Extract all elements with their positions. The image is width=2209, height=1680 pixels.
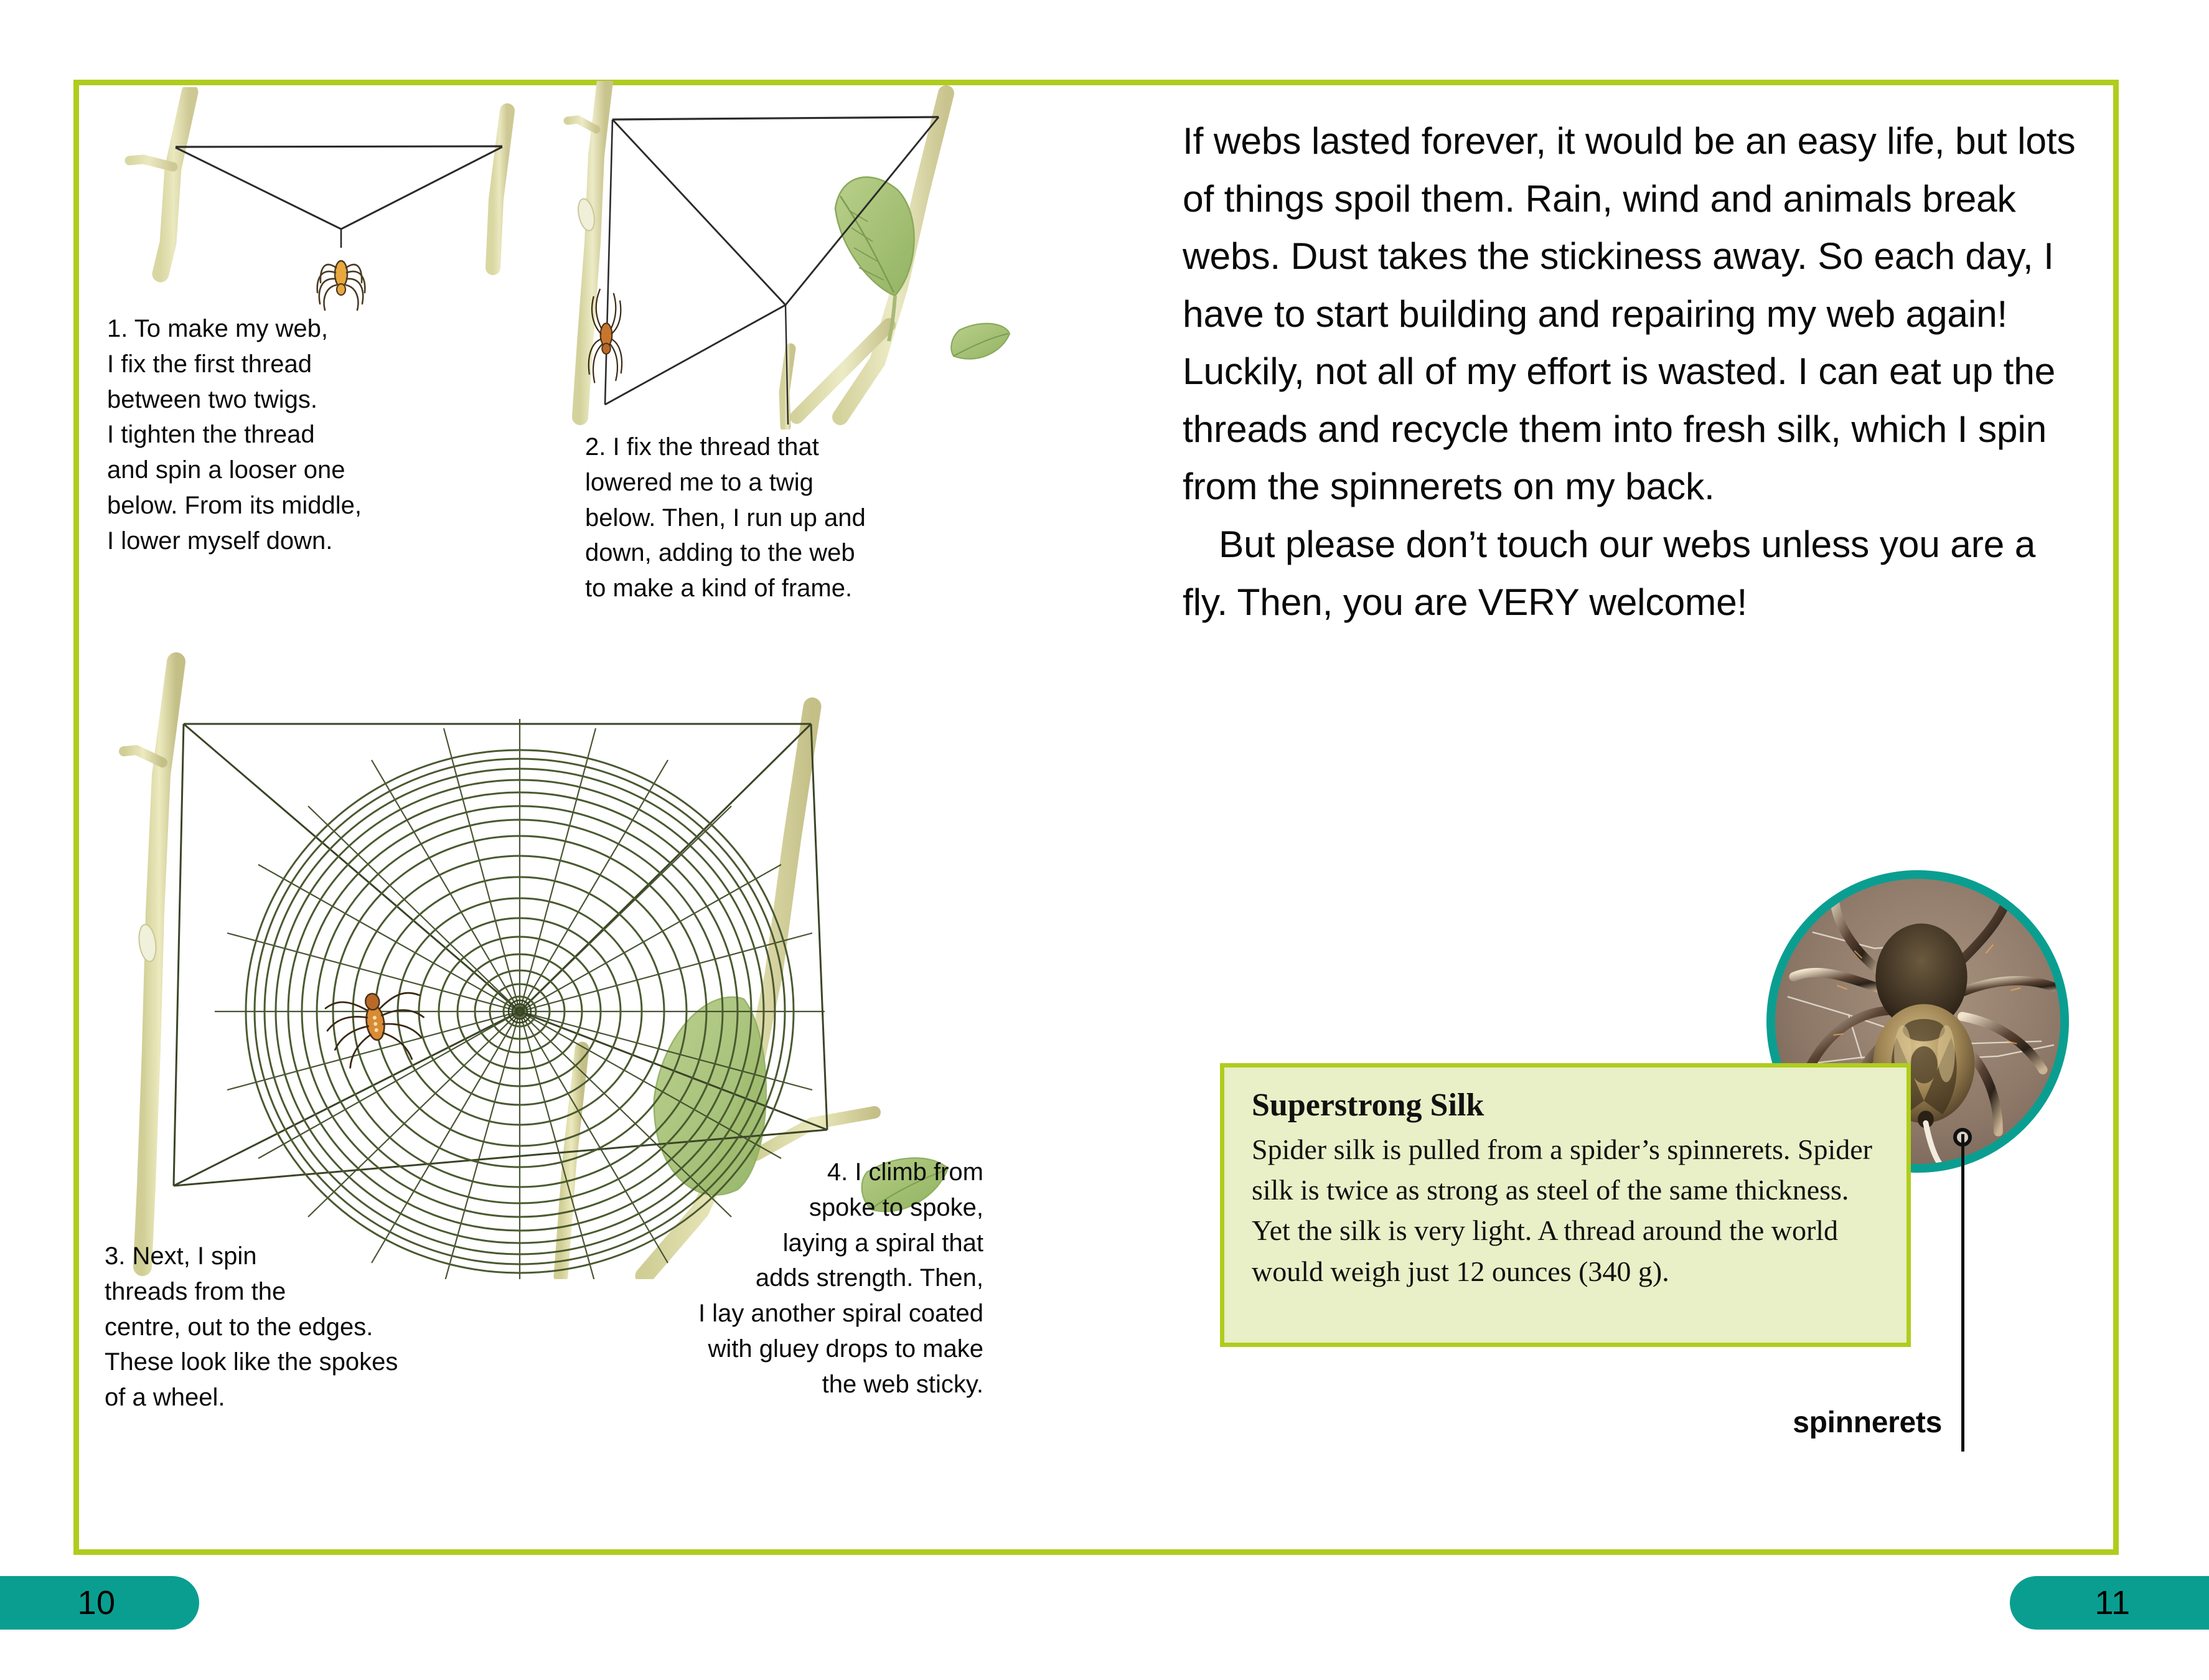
body-paragraph-2: But please don’t touch our webs unless y… <box>1183 515 2085 631</box>
step-4-caption: 4. I climb from spoke to spoke, laying a… <box>548 1155 983 1402</box>
page-number-right: 11 <box>2010 1576 2209 1630</box>
superstrong-silk-fact-box: Superstrong Silk Spider silk is pulled f… <box>1220 1063 1911 1347</box>
fact-box-body: Spider silk is pulled from a spider’s sp… <box>1252 1129 1882 1292</box>
spider-first-thread-illustration <box>106 87 517 336</box>
spinnerets-leader-line <box>1961 1134 1964 1452</box>
body-paragraph-1: If webs lasted forever, it would be an e… <box>1183 112 2085 515</box>
page-number-right-value: 11 <box>2094 1584 2130 1622</box>
spinnerets-label: spinnerets <box>1693 1405 1942 1440</box>
right-page-body: If webs lasted forever, it would be an e… <box>1183 112 2085 631</box>
step-2-caption: 2. I fix the thread that lowered me to a… <box>585 429 996 606</box>
spider-frame-thread-illustration <box>548 81 1033 429</box>
step-1-caption: 1. To make my web, I fix the first threa… <box>107 311 505 559</box>
page-number-left-value: 10 <box>77 1584 115 1622</box>
fact-box-title: Superstrong Silk <box>1252 1089 1882 1123</box>
step-3-caption: 3. Next, I spin threads from the centre,… <box>105 1239 534 1415</box>
page-number-left: 10 <box>0 1576 199 1630</box>
book-spread: 1. To make my web, I fix the first threa… <box>0 0 2209 1680</box>
